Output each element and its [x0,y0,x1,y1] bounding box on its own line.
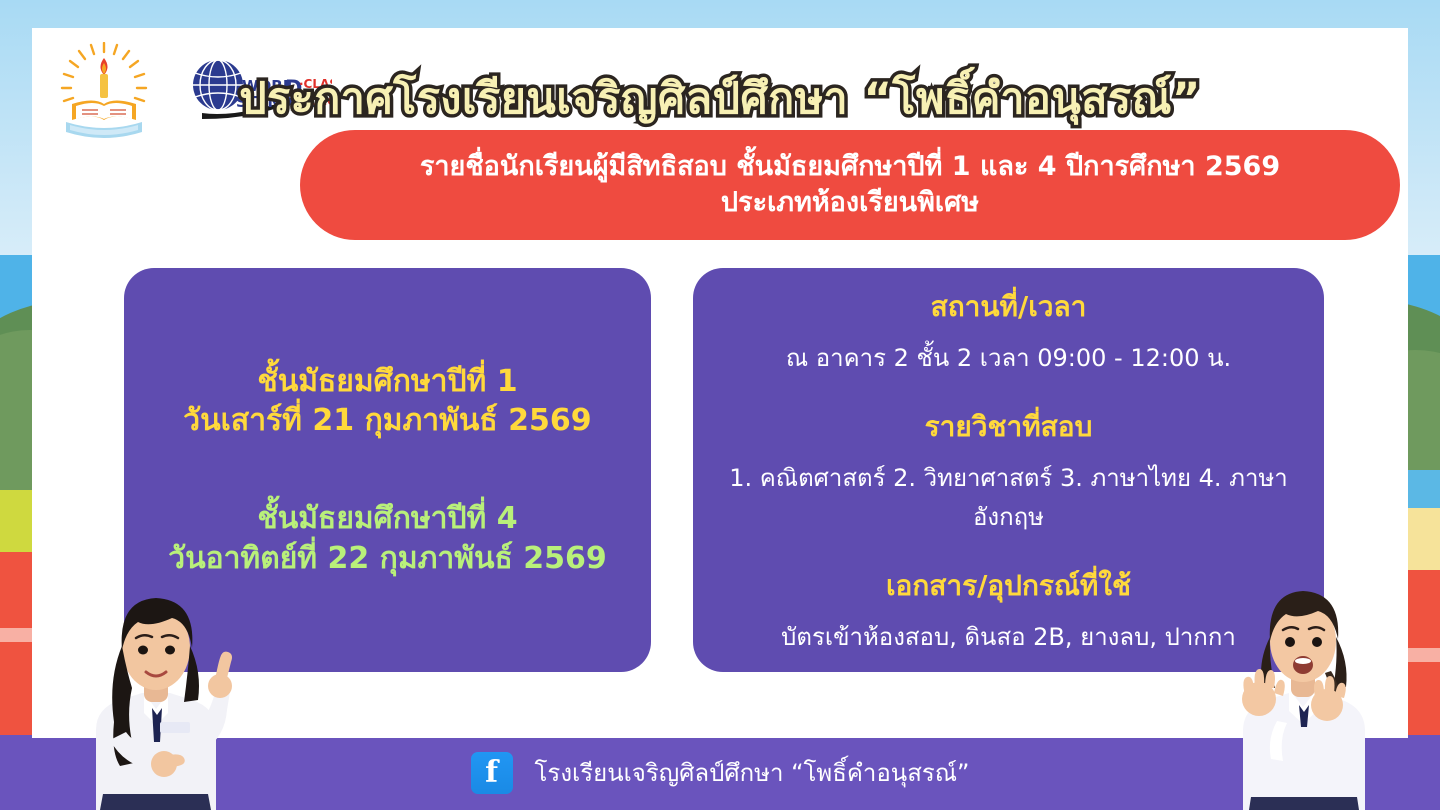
section-subjects: รายวิชาที่สอบ 1. คณิตศาสตร์ 2. วิทยาศาสต… [707,405,1310,536]
student-photo-cheering [1207,575,1402,810]
venue-time-body: ณ อาคาร 2 ชั้น 2 เวลา 09:00 - 12:00 น. [707,338,1310,377]
grade-4-level: ชั้นมัธยมศึกษาปีที่ 4 [168,499,607,539]
banner-line-2: ประเภทห้องเรียนพิเศษ [721,185,979,221]
grade-1-block: ชั้นมัธยมศึกษาปีที่ 1 วันเสาร์ที่ 21 กุม… [183,362,591,441]
facebook-glyph: f [485,758,498,788]
page-title: ประกาศโรงเรียนเจริญศิลป์ศึกษา “โพธิ์คำอน… [32,64,1408,132]
grade-1-date: วันเสาร์ที่ 21 กุมภาพันธ์ 2569 [183,401,591,441]
subjects-body: 1. คณิตศาสตร์ 2. วิทยาศาสตร์ 3. ภาษาไทย … [707,458,1310,536]
grade-4-date: วันอาทิตย์ที่ 22 กุมภาพันธ์ 2569 [168,539,607,579]
venue-time-heading: สถานที่/เวลา [707,285,1310,329]
facebook-page-name: โรงเรียนเจริญศิลป์ศึกษา “โพธิ์คำอนุสรณ์” [535,753,970,792]
announcement-banner: รายชื่อนักเรียนผู้มีสิทธิสอบ ชั้นมัธยมศึ… [300,130,1400,240]
grade-1-level: ชั้นมัธยมศึกษาปีที่ 1 [183,362,591,402]
banner-line-1: รายชื่อนักเรียนผู้มีสิทธิสอบ ชั้นมัธยมศึ… [420,149,1280,185]
facebook-icon[interactable]: f [471,752,513,794]
student-photo-pointing [48,580,258,810]
grade-4-block: ชั้นมัธยมศึกษาปีที่ 4 วันอาทิตย์ที่ 22 ก… [168,499,607,578]
subjects-heading: รายวิชาที่สอบ [707,405,1310,449]
section-venue-time: สถานที่/เวลา ณ อาคาร 2 ชั้น 2 เวลา 09:00… [707,285,1310,377]
